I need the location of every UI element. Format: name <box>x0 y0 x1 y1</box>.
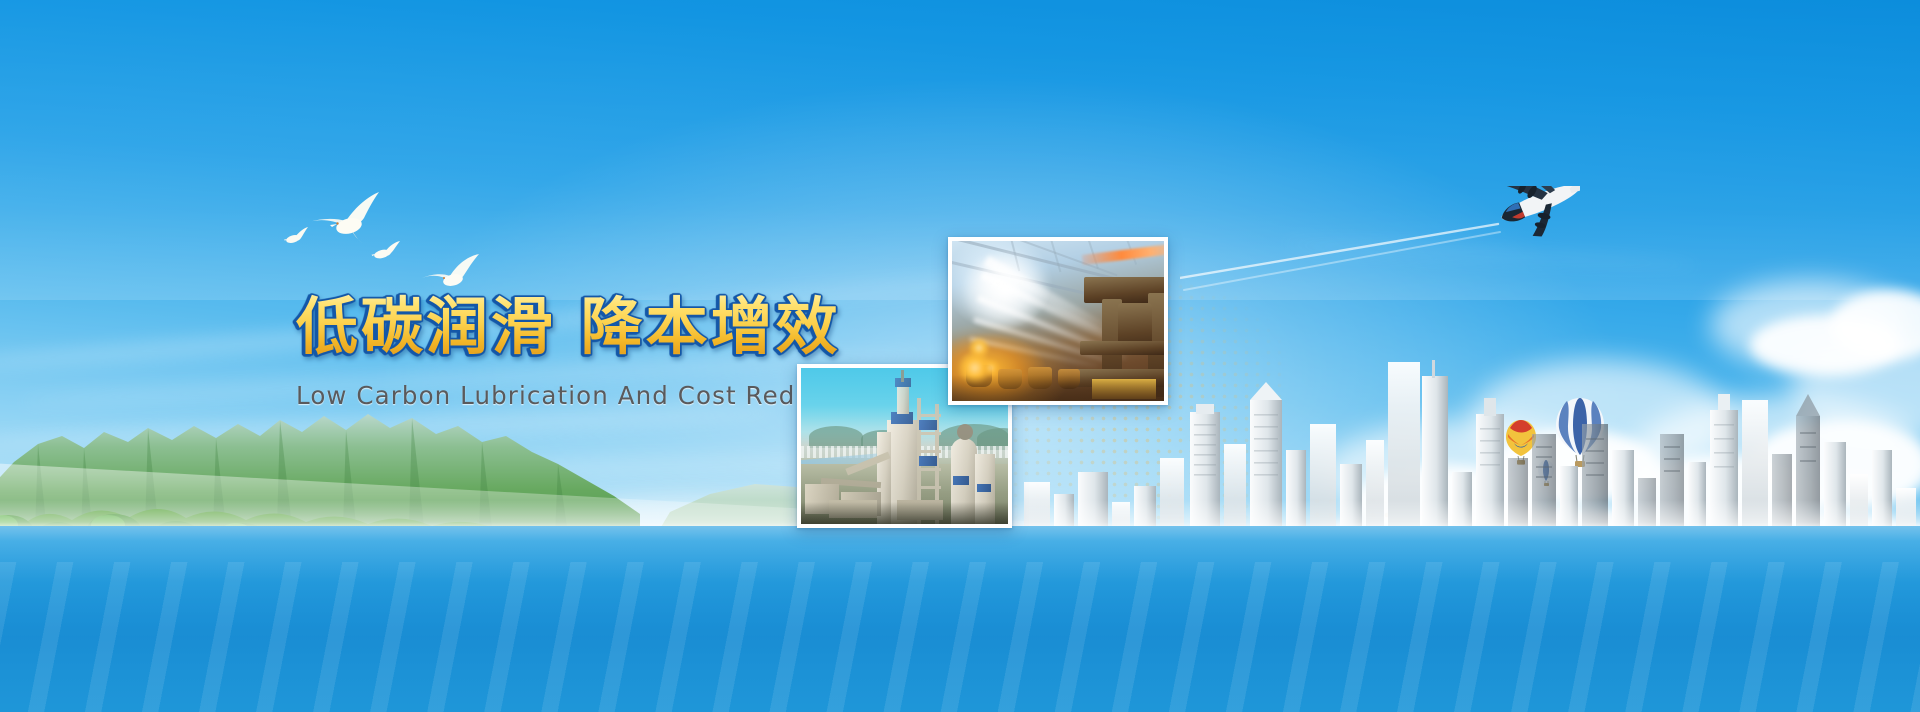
airliner-with-contrail <box>1180 186 1580 306</box>
calm-blue-water <box>0 526 1920 712</box>
hot-air-balloons-group <box>1498 392 1648 512</box>
steel-mill-interior-photo[interactable] <box>948 237 1168 405</box>
cloud-bank-far-right <box>1700 220 1920 400</box>
dove-icon-small-1 <box>283 226 309 248</box>
hero-banner: 低碳润滑 降本增效 Low Carbon Lubrication And Cos… <box>0 0 1920 712</box>
dove-icon <box>306 188 384 248</box>
banner-headline: 低碳润滑 降本增效 <box>296 292 916 361</box>
dove-icon-small-2 <box>371 240 401 266</box>
